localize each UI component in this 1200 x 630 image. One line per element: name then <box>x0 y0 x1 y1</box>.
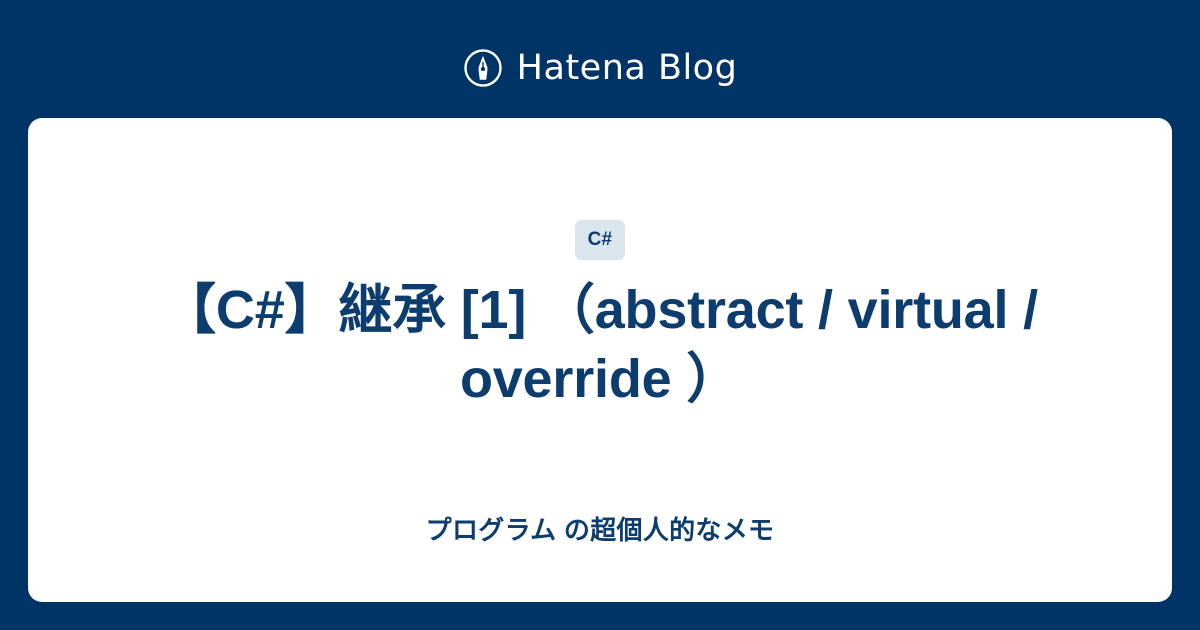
entry-card: C# 【C#】継承 [1] （abstract / virtual / over… <box>28 118 1172 602</box>
entry-title: 【C#】継承 [1] （abstract / virtual / overrid… <box>100 276 1100 414</box>
og-image-canvas: Hatena Blog C# 【C#】継承 [1] （abstract / vi… <box>0 0 1200 630</box>
category-badge[interactable]: C# <box>575 220 626 260</box>
brand-wordmark: Hatena Blog <box>517 51 738 86</box>
pen-nib-in-circle-icon <box>463 48 503 88</box>
blog-subtitle: プログラム の超個人的なメモ <box>28 514 1172 548</box>
category-badge-row: C# <box>88 220 1112 260</box>
brand-header: Hatena Blog <box>0 40 1200 96</box>
